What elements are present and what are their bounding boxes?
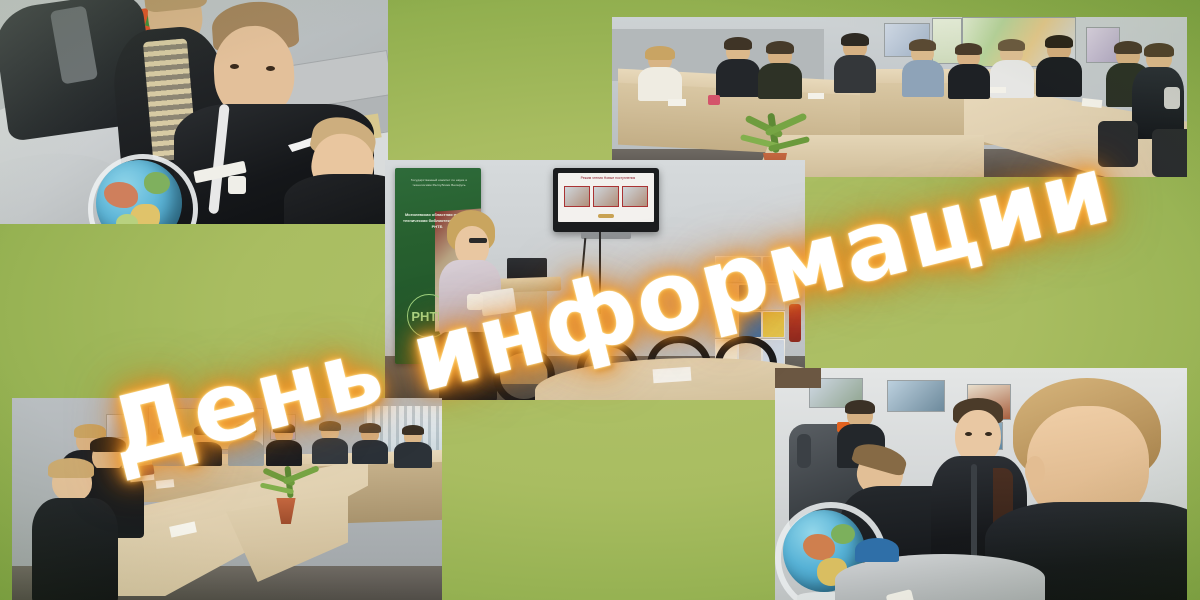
slide-title: Режим чтения Новые поступления [570, 176, 647, 184]
librarian-presentation-photo: Государственный комитет по науке и техно… [385, 160, 805, 400]
phone [708, 95, 720, 105]
chair [1098, 121, 1138, 167]
glasses [469, 238, 487, 243]
seated-student [834, 37, 876, 89]
tv-stand [581, 232, 632, 239]
seated-student [758, 45, 802, 95]
seated-student [228, 426, 264, 464]
wall-shelf [775, 368, 821, 388]
seated-student [716, 41, 760, 93]
seated-student [1036, 39, 1082, 93]
seated-student-foreground [32, 464, 114, 600]
conference-room-u-table-photo [612, 17, 1187, 177]
banner-header-text: Государственный комитет по науке и техно… [403, 178, 475, 188]
students-with-globe-photo [0, 0, 388, 224]
card [228, 176, 246, 194]
seated-student [188, 428, 222, 464]
trousers [439, 332, 497, 400]
paper-sheet [990, 87, 1006, 93]
student-figure [290, 118, 388, 224]
chair [1152, 129, 1187, 177]
seated-student [352, 426, 388, 462]
blue-object [855, 538, 899, 562]
ear [1025, 456, 1045, 486]
slide-thumbnails [564, 186, 649, 208]
seated-student [266, 426, 302, 464]
collage-canvas: Государственный комитет по науке и техно… [0, 0, 1200, 600]
seated-student [152, 428, 186, 464]
seated-student [1132, 47, 1184, 139]
students-globe-closeup-photo [775, 368, 1187, 600]
paper-sheet [808, 93, 824, 99]
seated-student [902, 43, 944, 93]
wall-tv: Режим чтения Новые поступления [553, 168, 659, 232]
seated-student [394, 428, 432, 466]
paper-sheet [653, 367, 692, 384]
seated-student [638, 49, 682, 97]
backpack-strap [797, 434, 811, 468]
seated-student [948, 47, 990, 95]
tv-cable [599, 232, 601, 314]
conference-room-wide-photo [12, 398, 442, 600]
paper-held [479, 288, 516, 316]
seated-student [312, 424, 348, 462]
fire-extinguisher [789, 304, 801, 342]
card-held [467, 294, 483, 310]
tv-screen: Режим чтения Новые поступления [558, 173, 654, 222]
paper-sheet [668, 99, 686, 106]
